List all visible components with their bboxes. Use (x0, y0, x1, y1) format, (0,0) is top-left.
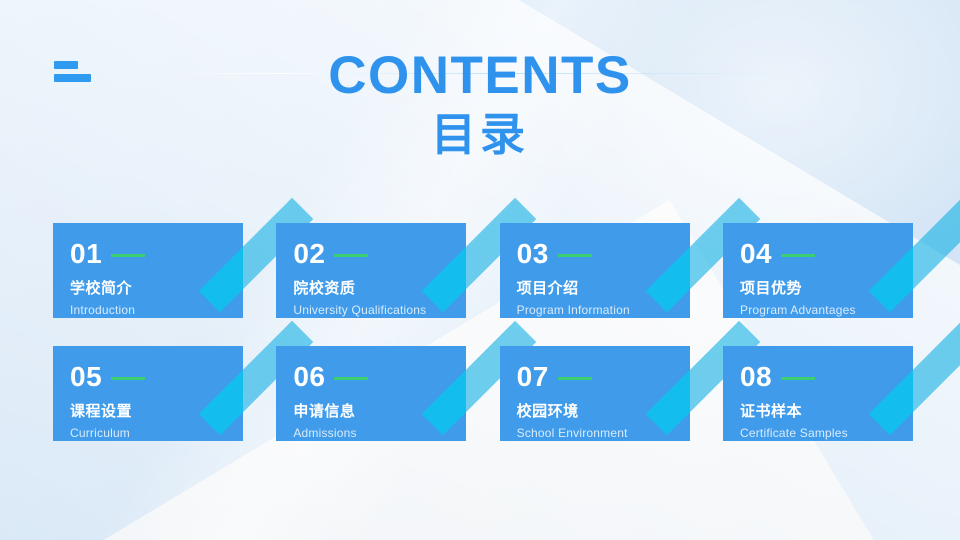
card-title-chinese: 课程设置 (70, 402, 243, 422)
card-dash-icon (334, 254, 368, 257)
card-number: 04 (740, 239, 772, 269)
card-number: 02 (293, 239, 325, 269)
card-number-row: 05 (70, 362, 243, 392)
card-dash-icon (781, 254, 815, 257)
card-title-chinese: 项目介绍 (517, 279, 690, 299)
contents-row-2: 05 课程设置 Curriculum 06 申请信息 Admissions (53, 346, 913, 441)
card-dash-icon (558, 254, 592, 257)
card-title-english: Certificate Samples (740, 425, 913, 441)
card-dash-icon (111, 377, 145, 380)
card-number: 05 (70, 362, 102, 392)
card-title-english: Curriculum (70, 425, 243, 441)
card-dash-icon (558, 377, 592, 380)
card-title-chinese: 项目优势 (740, 279, 913, 299)
card-title-chinese: 校园环境 (517, 402, 690, 422)
contents-grid: 01 学校简介 Introduction 02 院校资质 University … (53, 223, 913, 441)
contents-card-07[interactable]: 07 校园环境 School Environment (500, 346, 690, 441)
contents-card-03[interactable]: 03 项目介绍 Program Information (500, 223, 690, 318)
contents-card-06[interactable]: 06 申请信息 Admissions (276, 346, 466, 441)
card-number-row: 08 (740, 362, 913, 392)
card-number: 03 (517, 239, 549, 269)
slide-header: CONTENTS 目录 (0, 0, 960, 190)
card-dash-icon (111, 254, 145, 257)
card-number: 01 (70, 239, 102, 269)
page-title-english: CONTENTS (0, 47, 960, 105)
card-title-chinese: 学校简介 (70, 279, 243, 299)
card-number: 08 (740, 362, 772, 392)
contents-card-01[interactable]: 01 学校简介 Introduction (53, 223, 243, 318)
card-title-english: Admissions (293, 425, 466, 441)
page-title-chinese: 目录 (0, 108, 960, 162)
card-number: 07 (517, 362, 549, 392)
contents-row-1: 01 学校简介 Introduction 02 院校资质 University … (53, 223, 913, 318)
card-title-english: Introduction (70, 302, 243, 318)
contents-card-02[interactable]: 02 院校资质 University Qualifications (276, 223, 466, 318)
card-number-row: 03 (517, 239, 690, 269)
contents-card-04[interactable]: 04 项目优势 Program Advantages (723, 223, 913, 318)
card-title-chinese: 证书样本 (740, 402, 913, 422)
slide-canvas: CONTENTS 目录 01 学校简介 Introduction (0, 0, 960, 540)
contents-card-08[interactable]: 08 证书样本 Certificate Samples (723, 346, 913, 441)
card-title-english: Program Advantages (740, 302, 913, 318)
card-number-row: 06 (293, 362, 466, 392)
card-dash-icon (781, 377, 815, 380)
contents-card-05[interactable]: 05 课程设置 Curriculum (53, 346, 243, 441)
card-title-english: Program Information (517, 302, 690, 318)
card-number-row: 01 (70, 239, 243, 269)
card-number: 06 (293, 362, 325, 392)
card-title-chinese: 申请信息 (293, 402, 466, 422)
card-number-row: 07 (517, 362, 690, 392)
card-dash-icon (334, 377, 368, 380)
card-number-row: 02 (293, 239, 466, 269)
card-title-english: University Qualifications (293, 302, 466, 318)
card-title-chinese: 院校资质 (293, 279, 466, 299)
card-title-english: School Environment (517, 425, 690, 441)
card-number-row: 04 (740, 239, 913, 269)
